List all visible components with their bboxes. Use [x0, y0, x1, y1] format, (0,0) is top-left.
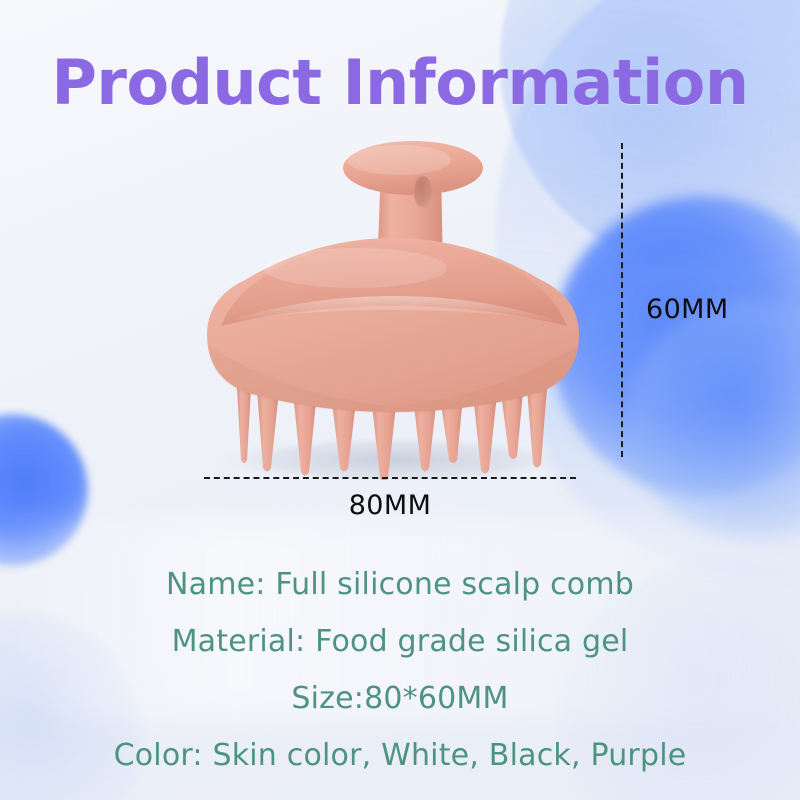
- spec-line-name: Name: Full silicone scalp comb: [0, 556, 800, 613]
- width-dimension-label: 80MM: [204, 490, 576, 521]
- spec-line-size: Size:80*60MM: [0, 670, 800, 727]
- height-dimension-line: [621, 143, 623, 457]
- dome-specular-highlight: [263, 248, 447, 288]
- product-shadow: [203, 434, 583, 480]
- hanging-hole: [414, 176, 432, 208]
- width-dimension-line: [204, 477, 576, 479]
- height-dimension-label: 60MM: [646, 294, 729, 325]
- product-image: [185, 130, 605, 480]
- scalp-massager-illustration: [185, 130, 605, 480]
- product-information-card: Product Information: [0, 0, 800, 800]
- handle-cap-highlight: [347, 145, 451, 175]
- spec-line-material: Material: Food grade silica gel: [0, 613, 800, 670]
- spec-list: Name: Full silicone scalp comb Material:…: [0, 556, 800, 784]
- page-title: Product Information: [0, 46, 800, 119]
- spec-line-color: Color: Skin color, White, Black, Purple: [0, 727, 800, 784]
